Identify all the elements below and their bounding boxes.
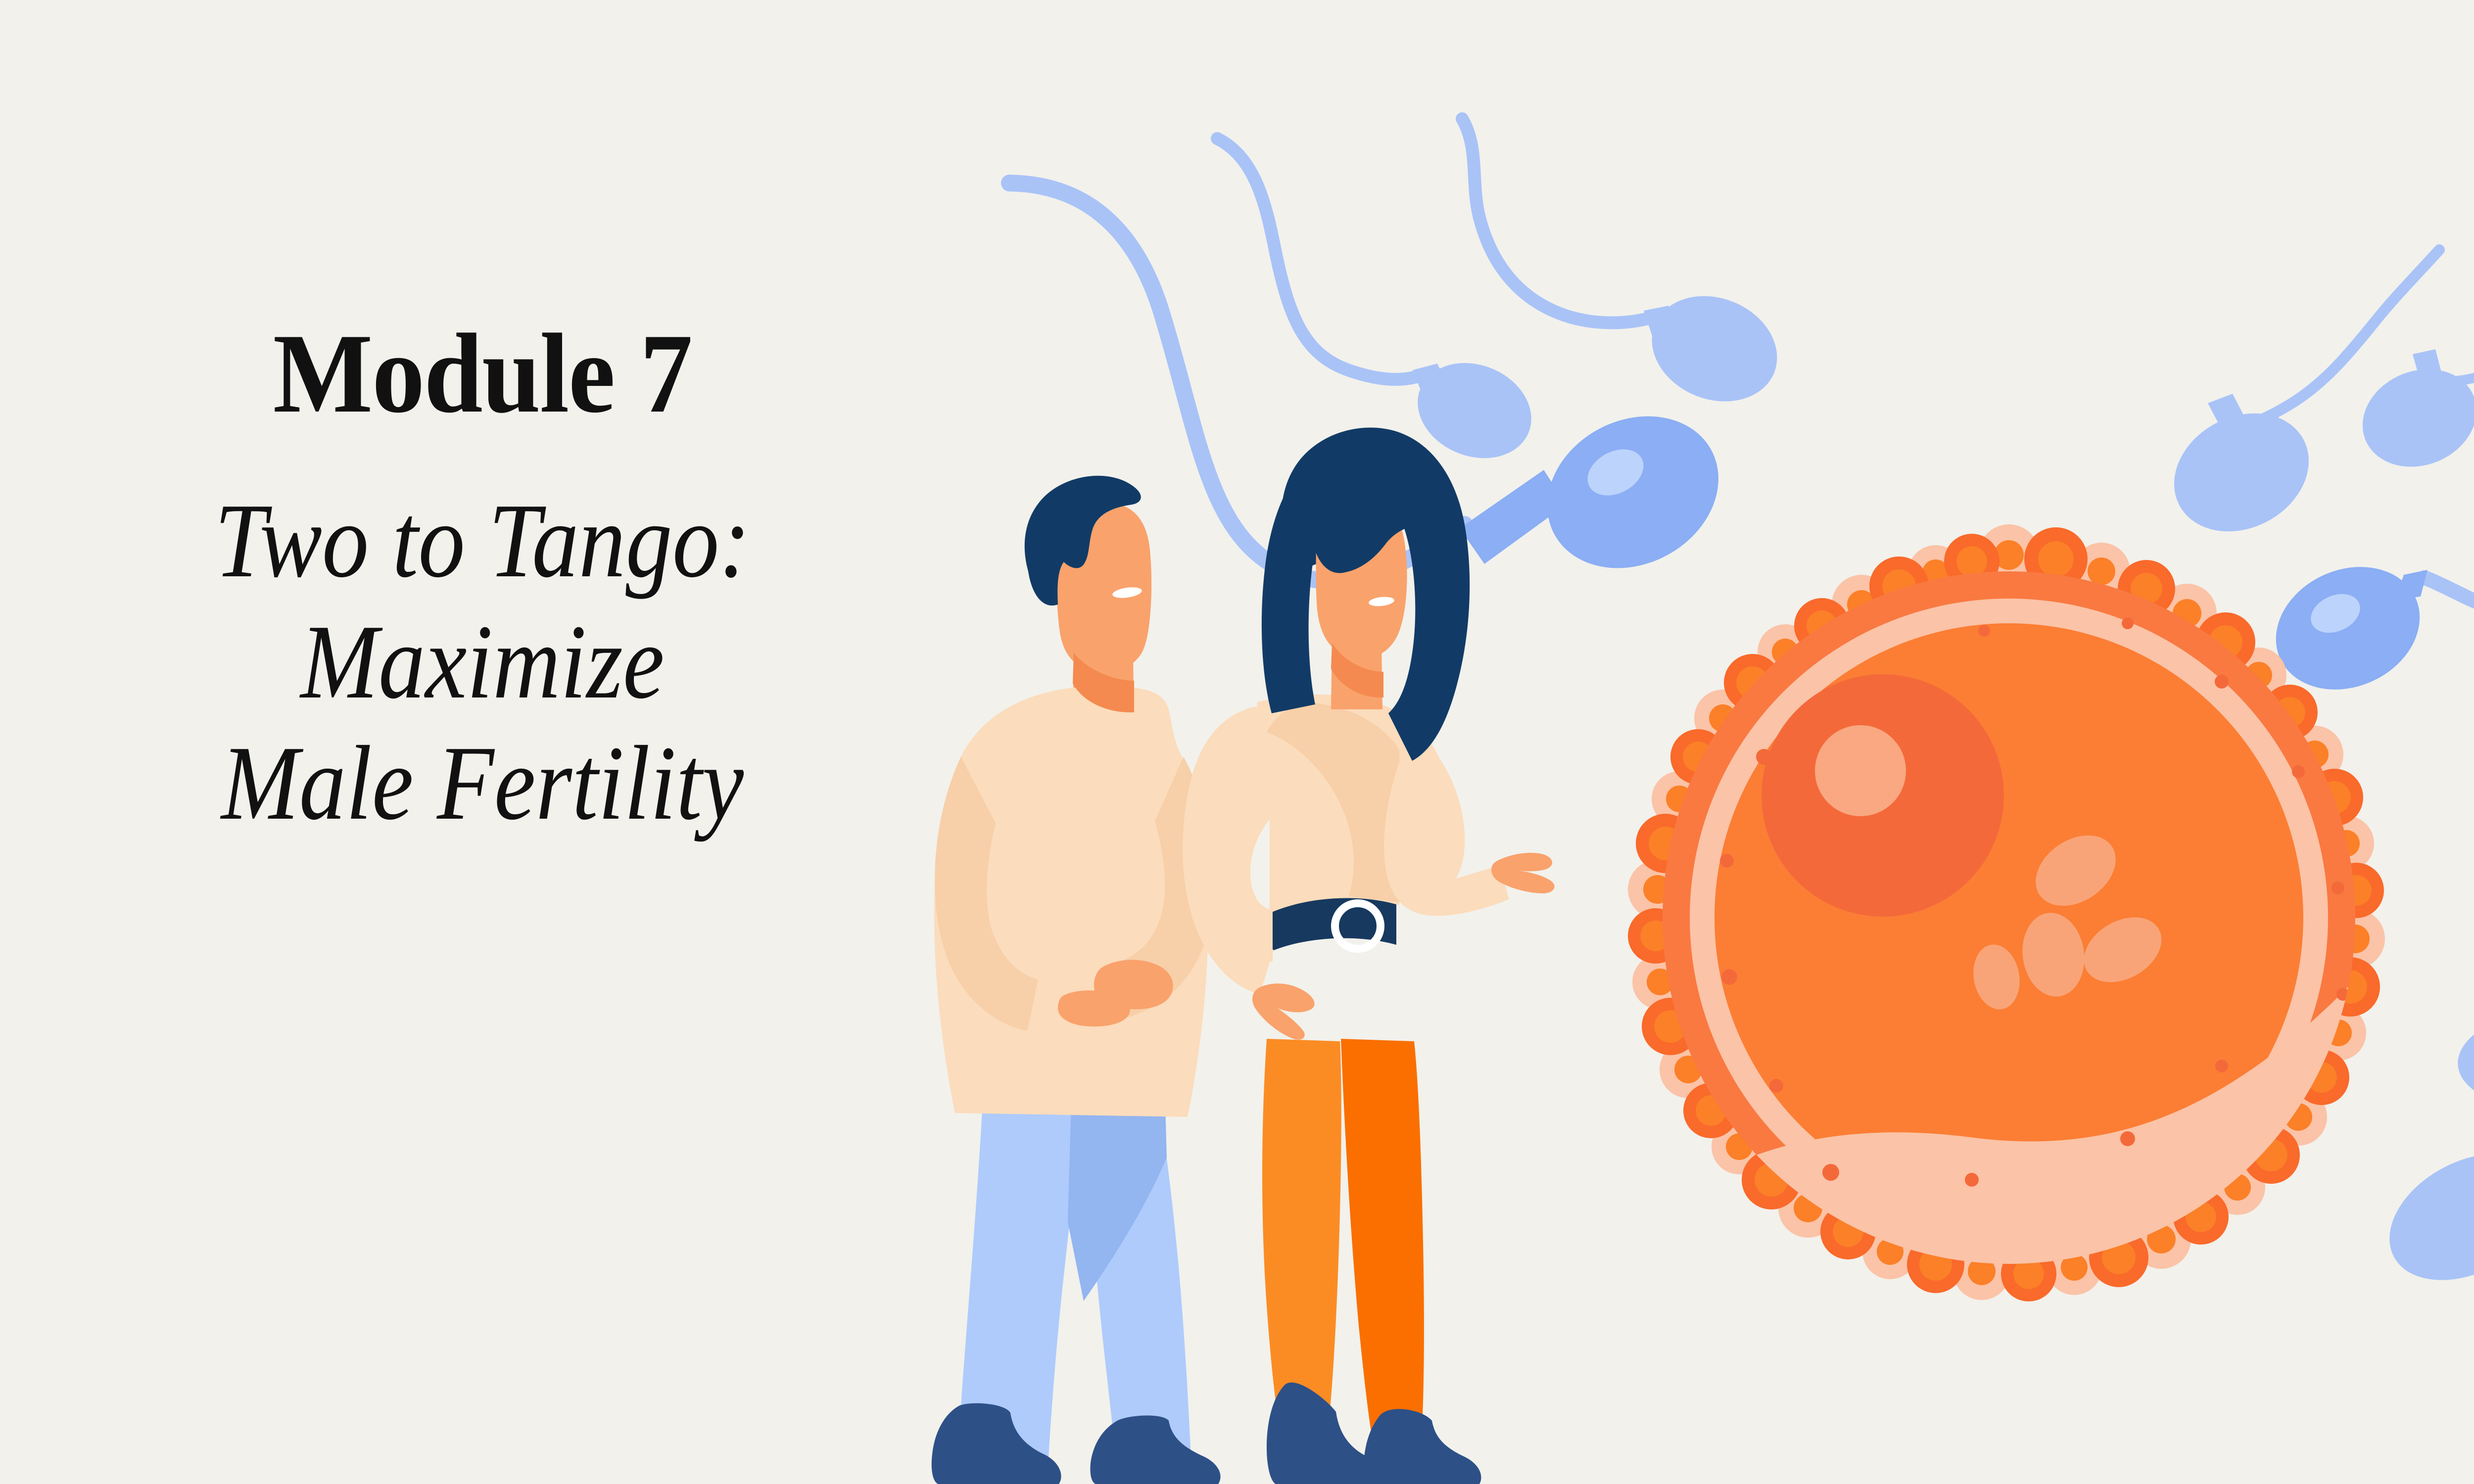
woman-hand-left [1252, 983, 1315, 1040]
title-line-1: Two to Tango: [58, 480, 907, 601]
sperm-head-1 [1521, 387, 1745, 597]
title-line-3: Male Fertility [58, 722, 907, 843]
man-figure [932, 476, 1221, 1484]
sperm-cell-7 [2454, 1003, 2474, 1114]
woman-figure [1183, 427, 1554, 1484]
title-block: Module 7 Two to Tango: Maximize Male Fer… [0, 317, 965, 843]
slide-title: Two to Tango: Maximize Male Fertility [58, 480, 907, 843]
sperm-cell-5 [2348, 267, 2474, 483]
woman-shoe-right [1364, 1409, 1481, 1484]
module-label: Module 7 [34, 317, 931, 430]
slide-root: Module 7 Two to Tango: Maximize Male Fer… [0, 0, 2474, 1484]
sperm-cell-2 [1217, 139, 1546, 475]
sperm-cell-3 [1462, 119, 1793, 419]
sperm-head-3 [1636, 278, 1793, 420]
sperm-head-4 [2153, 390, 2330, 554]
sperm-head-7 [2454, 1003, 2474, 1114]
sperm-cell-8 [2368, 1128, 2474, 1316]
sperm-head-8 [2368, 1128, 2474, 1305]
woman-arm-right [1384, 732, 1509, 916]
sperm-head-5 [2348, 353, 2474, 484]
man-shoe-right [1090, 1415, 1220, 1484]
egg-nucleolus [1815, 725, 1906, 816]
title-line-2: Maximize [58, 601, 907, 722]
